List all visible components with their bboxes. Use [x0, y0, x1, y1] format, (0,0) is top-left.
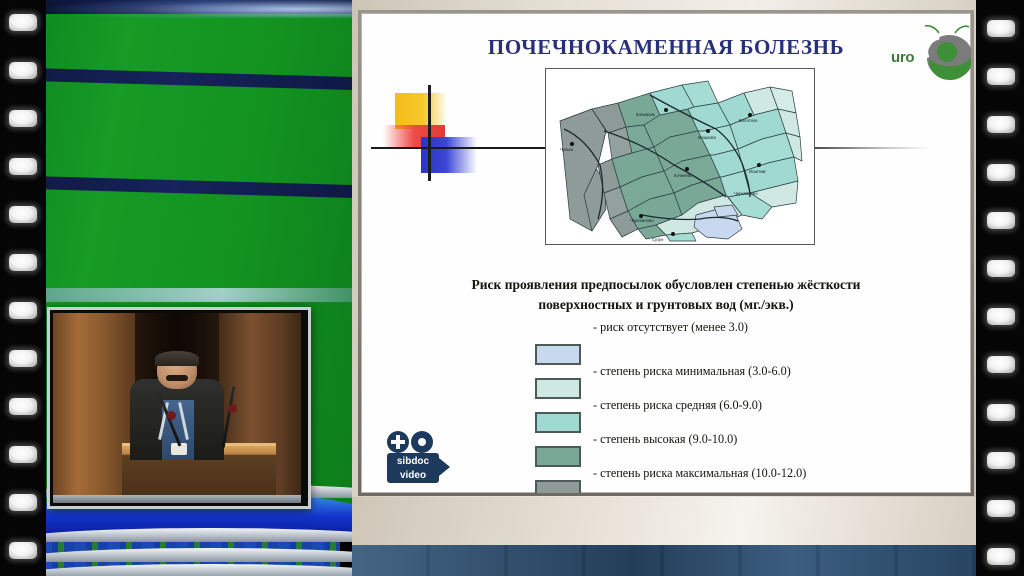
screenshot-stage: ПОЧЕЧНОКАМЕННАЯ БОЛЕЗНЬ — [0, 0, 1024, 576]
film-sprocket-hole — [987, 548, 1015, 565]
podium-front — [122, 455, 276, 495]
legend-row: - риск отсутствует (менее 3.0) — [361, 316, 971, 344]
legend-row: - степень риска средняя (6.0-9.0) — [361, 372, 971, 400]
legend-swatch — [535, 344, 581, 365]
deco-vertical-line — [428, 85, 431, 181]
sibdoc-video-logo: sibdoc video — [383, 431, 457, 489]
video-inset-base — [53, 495, 301, 503]
film-sprocket-hole — [987, 500, 1015, 517]
region-map: Колывань Мошково Болотное Искитим Коченё… — [545, 68, 815, 245]
screen-lower-wall — [352, 497, 980, 547]
svg-text:Болотное: Болотное — [739, 118, 758, 123]
desk-edge-bottom — [40, 564, 370, 576]
film-sprocket-hole — [987, 164, 1015, 181]
film-sprocket-hole — [9, 494, 37, 511]
camera-lens-icon — [439, 458, 450, 476]
film-reel-icon — [411, 431, 433, 453]
film-sprocket-hole — [987, 260, 1015, 277]
film-sprocket-hole — [9, 302, 37, 319]
svg-text:Сузун: Сузун — [652, 237, 664, 242]
film-sprocket-hole — [987, 404, 1015, 421]
caption-line-2: поверхностных и грунтовых вод (мг./экв.) — [381, 295, 951, 315]
speaker-video-frame — [53, 313, 301, 495]
plus-icon — [387, 431, 409, 453]
legend-swatch — [535, 480, 581, 493]
film-strip-right — [976, 0, 1024, 576]
svg-text:Чулым: Чулым — [560, 147, 573, 152]
speaker-hair — [155, 351, 198, 366]
film-sprocket-hole — [987, 212, 1015, 229]
wall-light-glare — [40, 0, 370, 18]
film-sprocket-hole — [9, 110, 37, 127]
film-sprocket-hole — [987, 452, 1015, 469]
deco-yellow-square — [395, 93, 447, 129]
legend-row: - степень высокая (9.0-10.0) — [361, 400, 971, 428]
film-sprocket-hole — [9, 398, 37, 415]
sibdoc-reels — [387, 431, 449, 453]
film-sprocket-hole — [9, 446, 37, 463]
film-sprocket-hole — [9, 350, 37, 367]
svg-text:Мошково: Мошково — [698, 135, 717, 140]
sibdoc-label: sibdoc video — [387, 453, 439, 483]
film-sprocket-hole — [987, 68, 1015, 85]
speaker-video-inset[interactable] — [47, 307, 311, 509]
speaker-moustache — [166, 375, 188, 381]
legend-row: - степень риска минимальная (3.0-6.0) — [361, 344, 971, 372]
caption-line-1: Риск проявления предпосылок обусловлен с… — [381, 275, 951, 295]
template-decoration — [383, 85, 493, 181]
wall-tile-band — [352, 545, 980, 576]
desk-edge-mid — [40, 528, 370, 542]
uro-logo-text: uro — [891, 49, 914, 66]
film-sprocket-hole — [9, 62, 37, 79]
slide-title: ПОЧЕЧНОКАМЕННАЯ БОЛЕЗНЬ — [361, 35, 971, 60]
microphone-head-right — [228, 404, 237, 413]
film-strip-left — [0, 0, 46, 576]
desk-edge-low — [40, 548, 370, 562]
svg-text:Черепаново: Черепаново — [630, 218, 654, 223]
svg-text:Коченёво: Коченёво — [674, 173, 693, 178]
presentation-slide: ПОЧЕЧНОКАМЕННАЯ БОЛЕЗНЬ — [361, 13, 971, 493]
film-sprocket-hole — [987, 308, 1015, 325]
projection-screen-panel: ПОЧЕЧНОКАМЕННАЯ БОЛЕЗНЬ — [352, 0, 980, 576]
region-map-svg: Колывань Мошково Болотное Искитим Коченё… — [546, 69, 814, 244]
film-sprocket-hole — [9, 14, 37, 31]
uro-logo-mark — [919, 25, 971, 83]
film-sprocket-hole — [987, 20, 1015, 37]
film-sprocket-hole — [9, 542, 37, 559]
film-sprocket-hole — [987, 356, 1015, 373]
uro-logo: uro — [891, 23, 967, 81]
sibdoc-line-1: sibdoc — [387, 455, 439, 469]
legend-swatch — [535, 378, 581, 399]
film-sprocket-hole — [9, 158, 37, 175]
slide-caption: Риск проявления предпосылок обусловлен с… — [381, 275, 951, 314]
svg-text:Искитим: Искитим — [749, 169, 766, 174]
legend-label: - риск отсутствует (менее 3.0) — [593, 320, 748, 335]
sibdoc-line-2: video — [387, 469, 439, 483]
wall-lower-glare — [40, 288, 370, 302]
film-sprocket-hole — [9, 206, 37, 223]
film-sprocket-hole — [9, 254, 37, 271]
svg-text:Колывань: Колывань — [636, 112, 656, 117]
svg-text:Черепаново: Черепаново — [734, 191, 758, 196]
microphone-head-left — [167, 411, 176, 420]
film-sprocket-hole — [987, 116, 1015, 133]
